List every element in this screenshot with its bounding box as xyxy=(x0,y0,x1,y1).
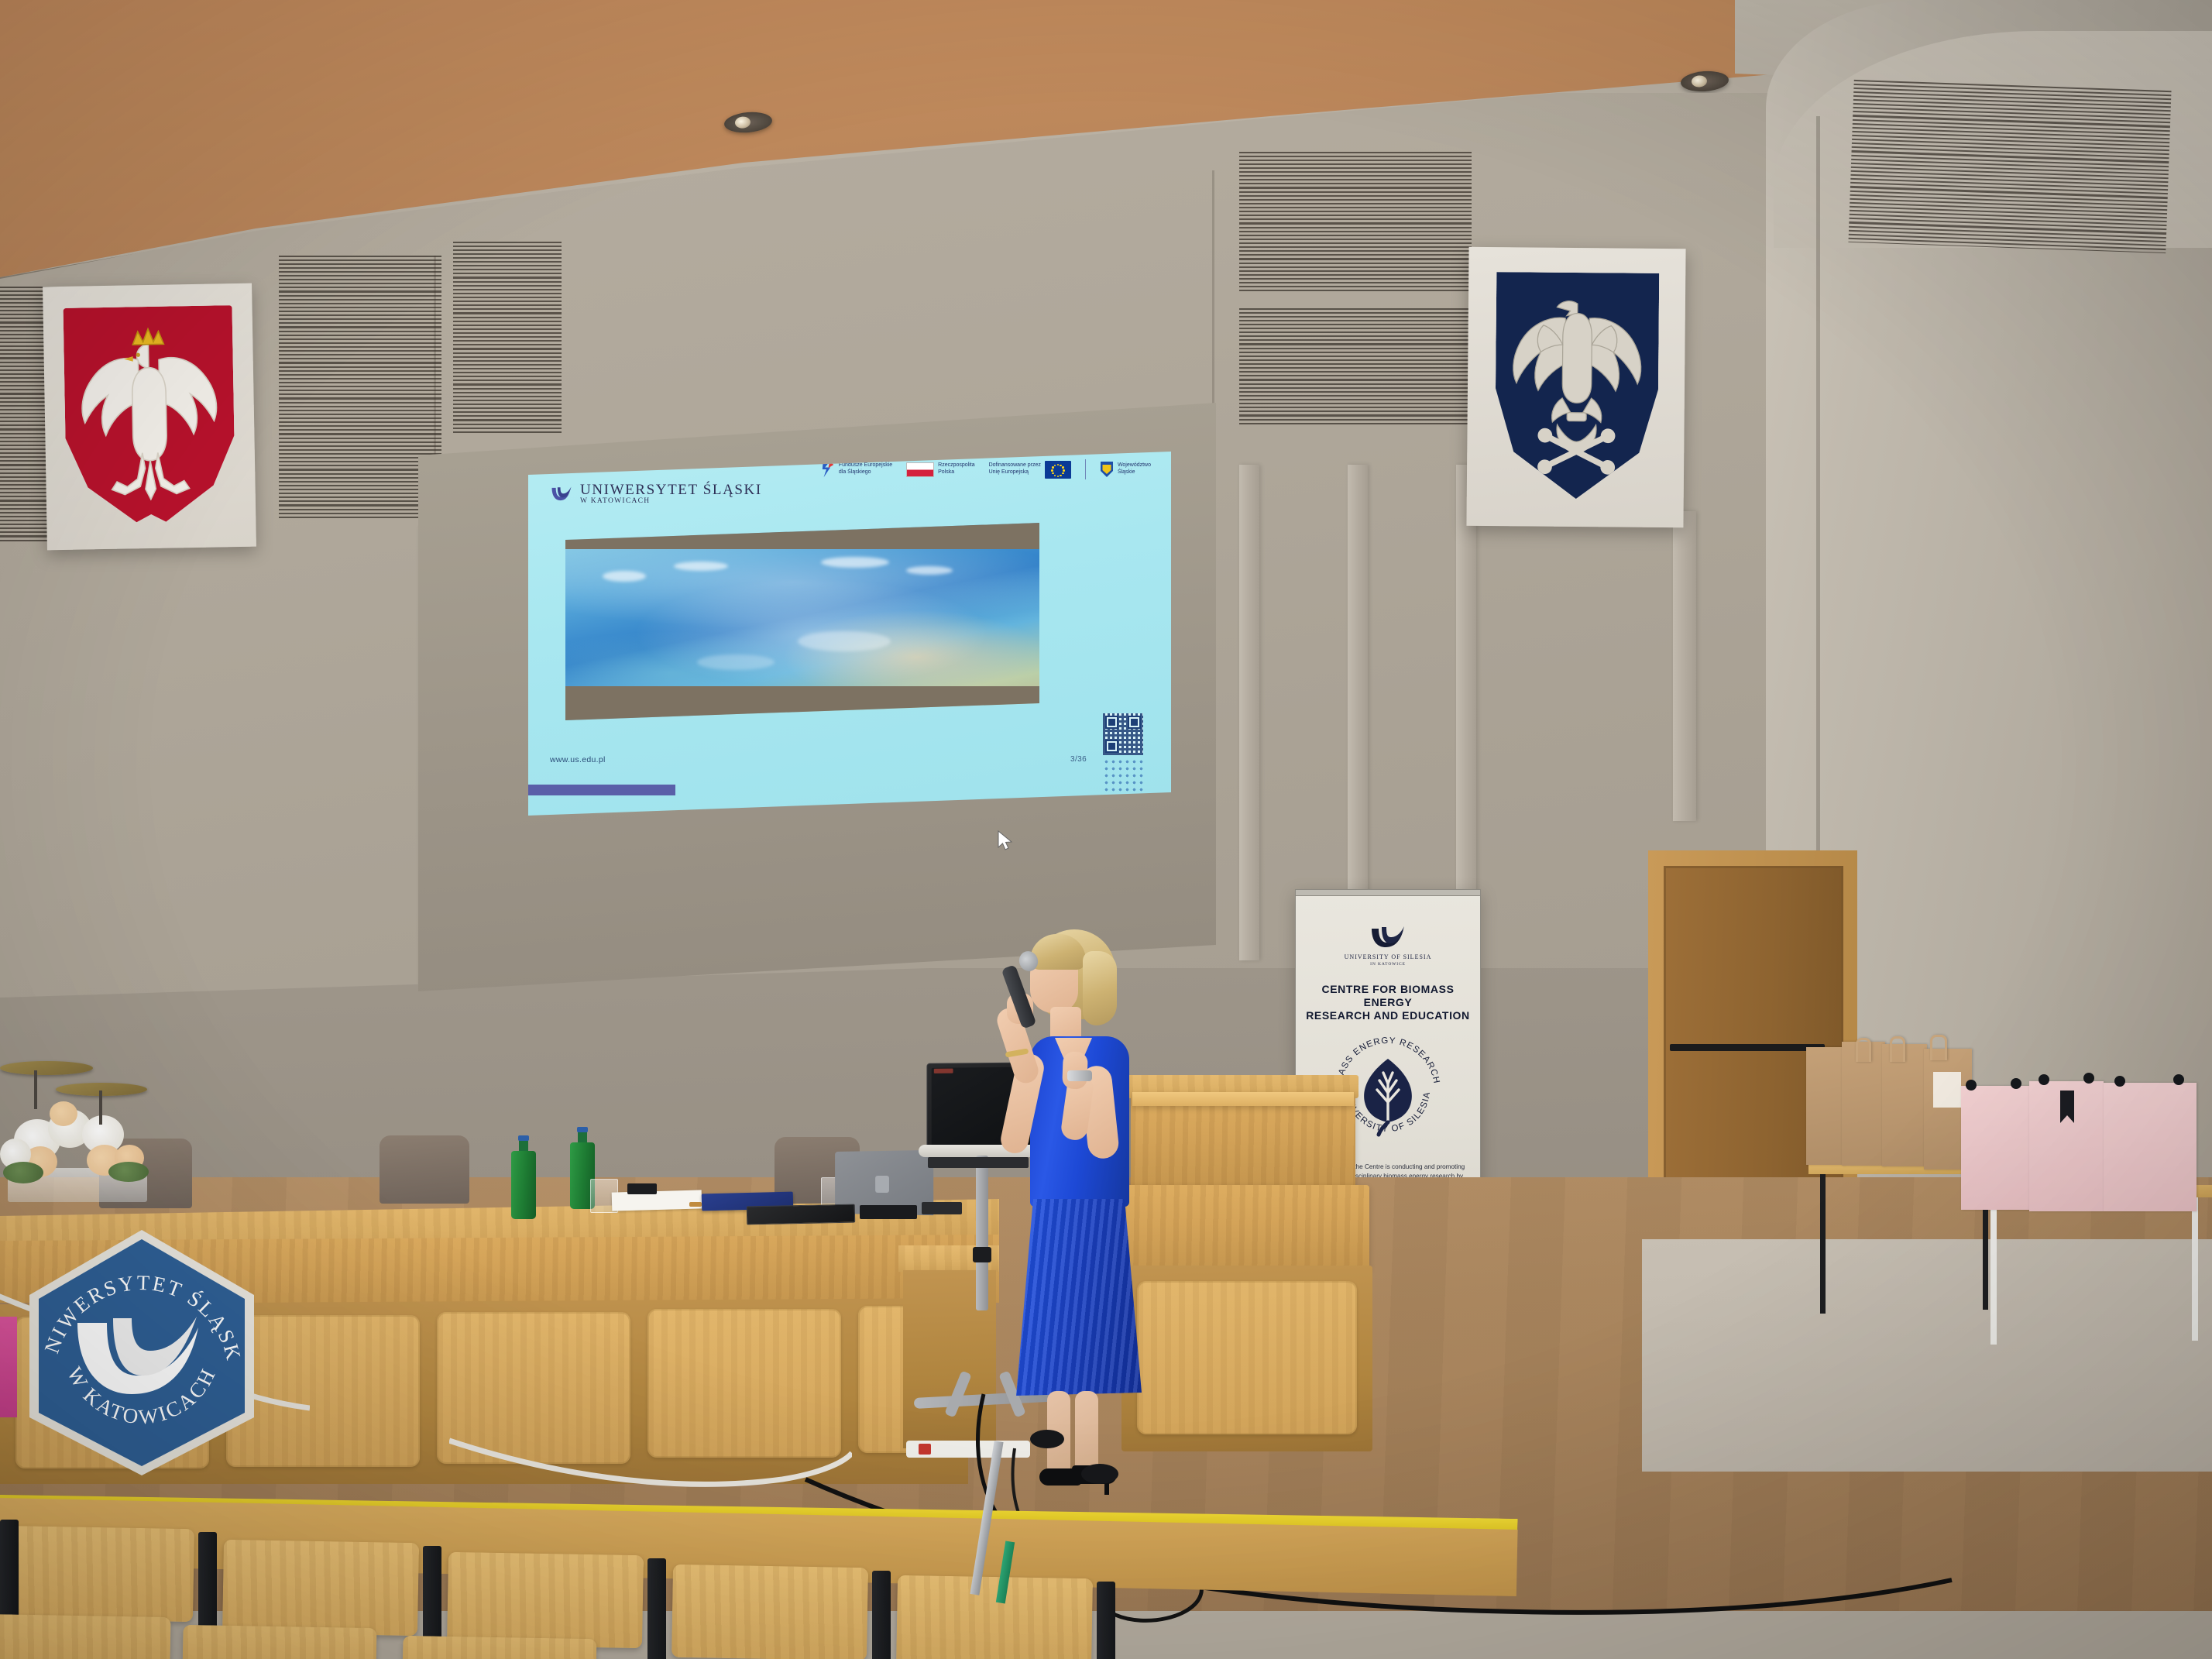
acoustic-panel xyxy=(453,242,562,435)
slide-page-number: 3/36 xyxy=(1070,755,1087,764)
slide-logo-line2: W KATOWICACH xyxy=(580,498,762,506)
white-eagle-icon xyxy=(70,314,229,510)
drum-cymbal xyxy=(0,1061,93,1075)
seat-bracket xyxy=(1097,1582,1115,1659)
banner-logo-line2: IN KATOWICE xyxy=(1296,962,1480,967)
mouse-cursor-icon[interactable] xyxy=(998,830,1015,854)
slide-logo-text: UNIWERSYTET ŚLĄSKI W KATOWICACH xyxy=(580,483,762,506)
bag-handle xyxy=(1856,1038,1871,1062)
bag-handle xyxy=(1930,1035,1947,1060)
poland-flag-icon xyxy=(906,462,934,477)
pen xyxy=(689,1202,702,1207)
cymbal-stand xyxy=(34,1070,37,1109)
cloud xyxy=(603,571,646,582)
lectern-edge-highlight xyxy=(1132,1092,1354,1106)
cloud xyxy=(906,566,953,575)
auditorium-seat-front[interactable] xyxy=(182,1625,376,1659)
silesian-emblem-panel xyxy=(1466,247,1685,527)
foliage xyxy=(3,1162,43,1183)
table-leg xyxy=(1820,1174,1826,1314)
chair xyxy=(380,1135,469,1204)
thinkpad-logo xyxy=(934,1069,953,1073)
gift-bag-pink xyxy=(2104,1083,2197,1211)
funding-label: Rzeczpospolita Polska xyxy=(938,462,974,476)
slide-footer-url: www.us.edu.pl xyxy=(550,755,606,764)
pink-object xyxy=(0,1317,17,1417)
right-floor-wall-base xyxy=(1642,1239,2212,1472)
silesian-shield xyxy=(1495,272,1660,502)
seat-bracket xyxy=(647,1558,666,1659)
wall-pilaster xyxy=(1673,511,1696,821)
wojewodztwo-slaskie-icon xyxy=(1100,461,1114,478)
slide-logo-line1: UNIWERSYTET ŚLĄSKI xyxy=(580,483,762,498)
peach-carnation xyxy=(50,1101,77,1126)
banner-university-logo xyxy=(1369,926,1407,949)
banner-title: CENTRE FOR BIOMASS ENERGY RESEARCH AND E… xyxy=(1296,983,1480,1022)
cloud xyxy=(798,631,891,651)
auditorium-seat-front[interactable] xyxy=(0,1614,171,1659)
auditorium-seat[interactable] xyxy=(222,1540,419,1636)
cable-bundle xyxy=(922,1202,962,1214)
small-black-box xyxy=(627,1183,657,1194)
gift-bag-pink xyxy=(2029,1081,2104,1211)
acoustic-panel xyxy=(279,256,441,519)
projected-slide: UNIWERSYTET ŚLĄSKI W KATOWICACH Fundusze… xyxy=(528,452,1171,816)
black-keyboard[interactable] xyxy=(747,1204,855,1225)
slide-accent-bar xyxy=(528,785,675,795)
lecture-hall-photo: UNIWERSYTET ŚLĄSKI W KATOWICACH Fundusze… xyxy=(0,0,2212,1659)
us-wave-mark-icon xyxy=(1369,926,1407,949)
table-leg xyxy=(2192,1197,2198,1341)
stand-clamp xyxy=(973,1247,991,1262)
cloud xyxy=(821,557,889,568)
cable-connector xyxy=(1030,1430,1064,1448)
auditorium-seat[interactable] xyxy=(671,1565,868,1659)
photo-letterbox-top xyxy=(565,523,1039,549)
slide-university-logo: UNIWERSYTET ŚLĄSKI W KATOWICACH xyxy=(550,483,762,506)
polish-shield xyxy=(64,305,236,525)
cloud xyxy=(697,654,775,670)
gift-bag-kraft xyxy=(1806,1047,1845,1165)
funding-label: Dofinansowane przez Unię Europejską xyxy=(989,462,1041,476)
auditorium-seat[interactable] xyxy=(447,1552,644,1648)
polish-coat-of-arms-panel xyxy=(43,283,256,551)
eu-flag-icon xyxy=(1045,461,1071,479)
table-leg xyxy=(1990,1197,1997,1345)
acoustic-panel xyxy=(1848,80,2171,253)
slide-photo-earth xyxy=(565,523,1039,720)
logo-divider xyxy=(1085,459,1086,479)
banner-top-rail xyxy=(1296,890,1480,896)
foliage xyxy=(108,1162,149,1182)
slide-qr-code xyxy=(1103,713,1143,755)
acoustic-panel xyxy=(1239,308,1472,424)
cymbal-stand xyxy=(99,1091,102,1125)
funding-logo-wojewodztwo: Województwo Śląskie xyxy=(1100,461,1151,478)
paper-stack xyxy=(612,1190,702,1211)
power-brick xyxy=(860,1205,917,1219)
funding-logo-poland: Rzeczpospolita Polska xyxy=(906,462,974,477)
wall-pilaster xyxy=(1456,465,1476,929)
wall-pilaster xyxy=(1348,465,1368,945)
hair-side xyxy=(1083,951,1117,1025)
laptop-stand-column xyxy=(976,1156,988,1310)
banner-logo-line1: UNIVERSITY OF SILESIA xyxy=(1296,953,1480,960)
funding-label: Województwo Śląskie xyxy=(1118,462,1151,476)
university-floor-logo: UNIWERSYTET ŚLĄSKI W KATOWICACH xyxy=(22,1224,262,1479)
gift-bag-kraft xyxy=(1882,1044,1927,1166)
cable-connector xyxy=(1081,1464,1118,1484)
wall-pilaster xyxy=(1239,465,1259,960)
auditorium-seat[interactable] xyxy=(896,1575,1093,1659)
us-wave-mark-icon xyxy=(550,486,573,503)
cloud xyxy=(674,562,728,571)
auditorium-seat-front[interactable] xyxy=(403,1636,597,1659)
bag-handle xyxy=(1890,1036,1905,1062)
silesian-eagle-icon xyxy=(1499,281,1654,476)
water-bottle-green xyxy=(511,1135,536,1219)
auditorium-seat[interactable] xyxy=(0,1526,194,1622)
wristwatch xyxy=(1067,1070,1092,1081)
door-push-bar[interactable] xyxy=(1670,1044,1825,1051)
photo-letterbox-bottom xyxy=(565,686,1039,720)
funding-logo-eu: Dofinansowane przez Unię Europejską xyxy=(989,461,1071,479)
seat-bracket xyxy=(872,1571,891,1659)
acoustic-panel xyxy=(1239,152,1472,291)
gift-bag-pink xyxy=(1961,1086,2029,1210)
apple-logo-icon xyxy=(875,1176,889,1193)
funding-label: Fundusze Europejskie dla Śląskiego xyxy=(839,462,892,476)
